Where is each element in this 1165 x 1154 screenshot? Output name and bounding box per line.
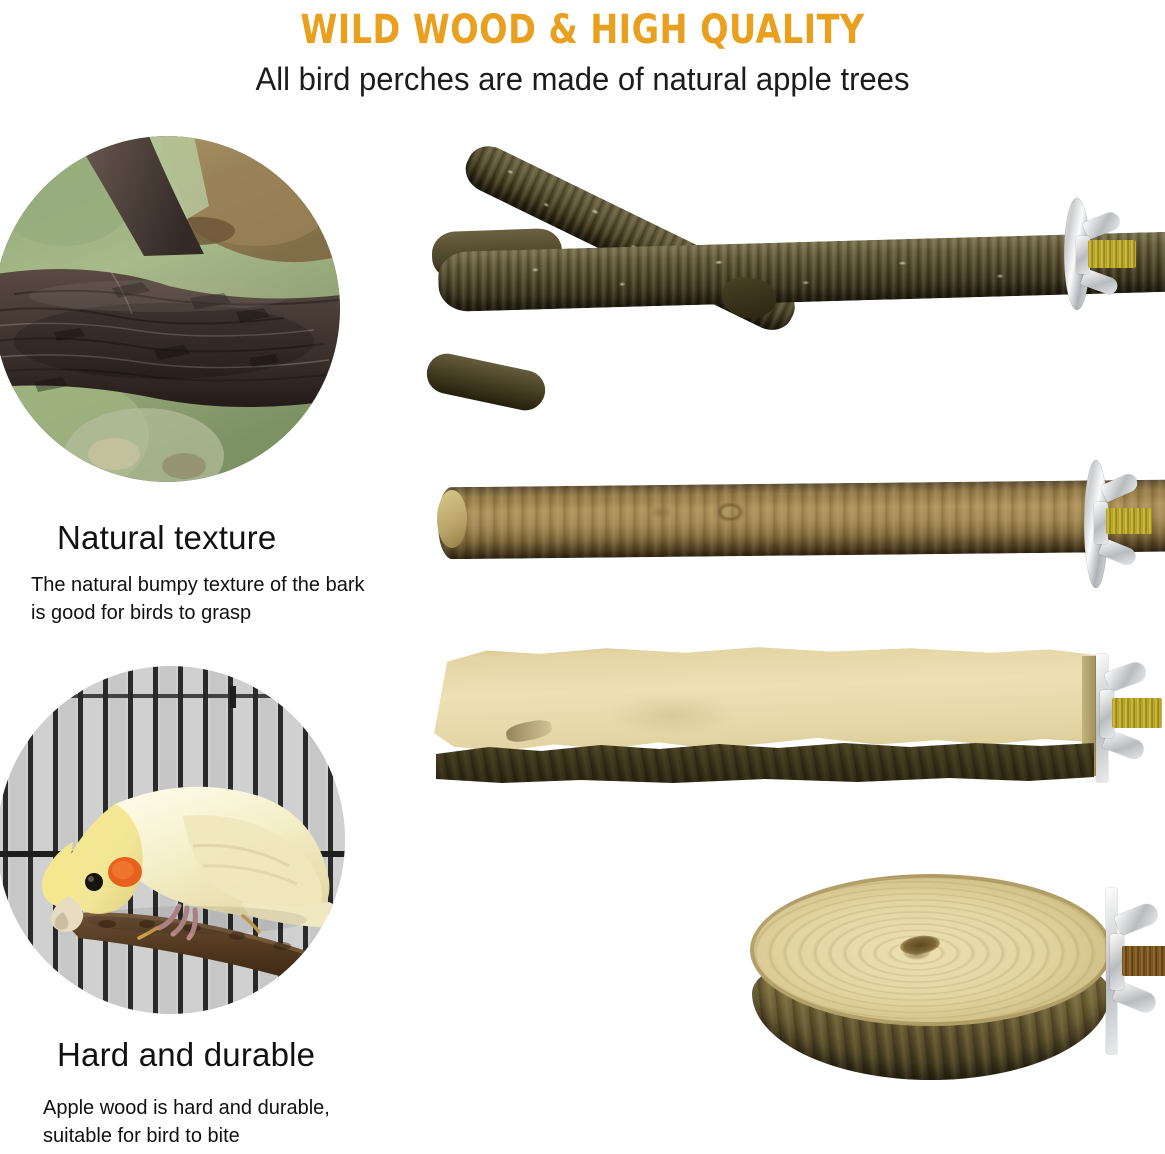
natural-texture-photo (0, 136, 340, 482)
fork-branch-tip (423, 350, 549, 414)
page-subtitle: All bird perches are made of natural app… (17, 51, 1147, 97)
wing-nut-upper (1104, 660, 1148, 692)
straight-stick-perch (438, 456, 1165, 596)
plank-top-surface (434, 646, 1096, 758)
brass-bolt (1106, 508, 1152, 534)
feature-1-body: The natural bumpy texture of the bark is… (31, 571, 381, 628)
brass-bolt (1088, 240, 1136, 268)
bark-photo-illustration (0, 136, 340, 482)
stick-body (438, 477, 1165, 560)
forked-branch-perch (432, 186, 1165, 420)
stick-knot (713, 500, 747, 524)
feature-2-body: Apple wood is hard and durable, suitable… (43, 1094, 403, 1151)
stick-cut-end (437, 490, 467, 548)
cockatiel-photo-illustration (0, 666, 345, 1014)
feature-2-title: Hard and durable (57, 1036, 315, 1074)
hard-durable-photo (0, 666, 345, 1014)
wing-nut-upper (1114, 901, 1161, 936)
round-log-slice-platform (740, 862, 1165, 1116)
header: WILD WOOD & HIGH QUALITY All bird perche… (0, 0, 1165, 97)
feature-1-title: Natural texture (57, 519, 276, 557)
brass-bolt (1112, 698, 1162, 728)
flat-plank-platform (434, 640, 1165, 820)
page-title: WILD WOOD & HIGH QUALITY (41, 0, 1124, 51)
bronze-bolt (1122, 946, 1165, 976)
